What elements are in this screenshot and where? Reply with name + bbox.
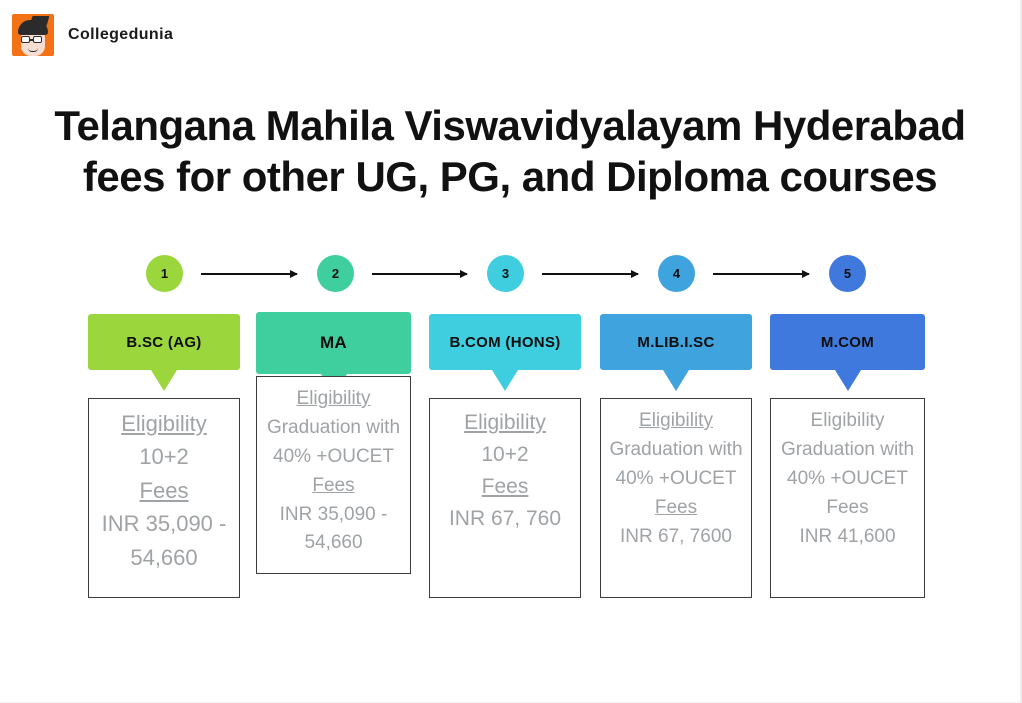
eligibility-value: Graduation with 40% +OUCET [775,436,920,494]
course-detail-box-2: EligibilityGraduation with 40% +OUCETFee… [256,376,411,574]
eligibility-label: Eligibility [775,407,920,436]
fees-label: Fees [93,474,235,507]
infographic-page: Collegedunia Telangana Mahila Viswavidya… [0,0,1022,703]
course-header-label: M.LIB.I.SC [637,334,714,351]
course-header-label: B.SC (AG) [126,334,201,351]
course-header-3[interactable]: B.COM (HONS) [429,314,581,370]
header-pointer-tail [835,370,861,391]
eligibility-label: Eligibility [605,407,747,436]
course-header-label: M.COM [821,334,874,351]
course-detail-box-3: Eligibility10+2FeesINR 67, 760 [429,398,581,598]
eligibility-label: Eligibility [93,407,235,440]
course-header-1[interactable]: B.SC (AG) [88,314,240,370]
course-detail-box-5: EligibilityGraduation with 40% +OUCETFee… [770,398,925,598]
fees-value: INR 67, 760 [434,503,576,535]
header-pointer-tail [492,370,518,391]
eligibility-value: 10+2 [93,440,235,473]
fees-value: INR 35,090 - 54,660 [93,507,235,574]
fees-label: Fees [434,471,576,503]
eligibility-label: Eligibility [261,385,406,414]
eligibility-value: Graduation with 40% +OUCET [605,436,747,494]
course-header-5[interactable]: M.COM [770,314,925,370]
course-detail-box-1: Eligibility10+2FeesINR 35,090 - 54,660 [88,398,240,598]
header-pointer-tail [151,370,177,391]
eligibility-value: Graduation with 40% +OUCET [261,414,406,472]
fees-value: INR 35,090 - 54,660 [261,501,406,559]
course-header-4[interactable]: M.LIB.I.SC [600,314,752,370]
course-columns: B.SC (AG)Eligibility10+2FeesINR 35,090 -… [0,0,1022,703]
fees-label: Fees [605,494,747,523]
eligibility-label: Eligibility [434,407,576,439]
fees-value: INR 41,600 [775,523,920,552]
course-detail-box-4: EligibilityGraduation with 40% +OUCETFee… [600,398,752,598]
course-header-label: MA [320,333,347,353]
course-header-label: B.COM (HONS) [449,334,560,351]
fees-value: INR 67, 7600 [605,523,747,552]
fees-label: Fees [261,472,406,501]
fees-label: Fees [775,494,920,523]
eligibility-value: 10+2 [434,439,576,471]
course-header-2[interactable]: MA [256,312,411,374]
header-pointer-tail [663,370,689,391]
